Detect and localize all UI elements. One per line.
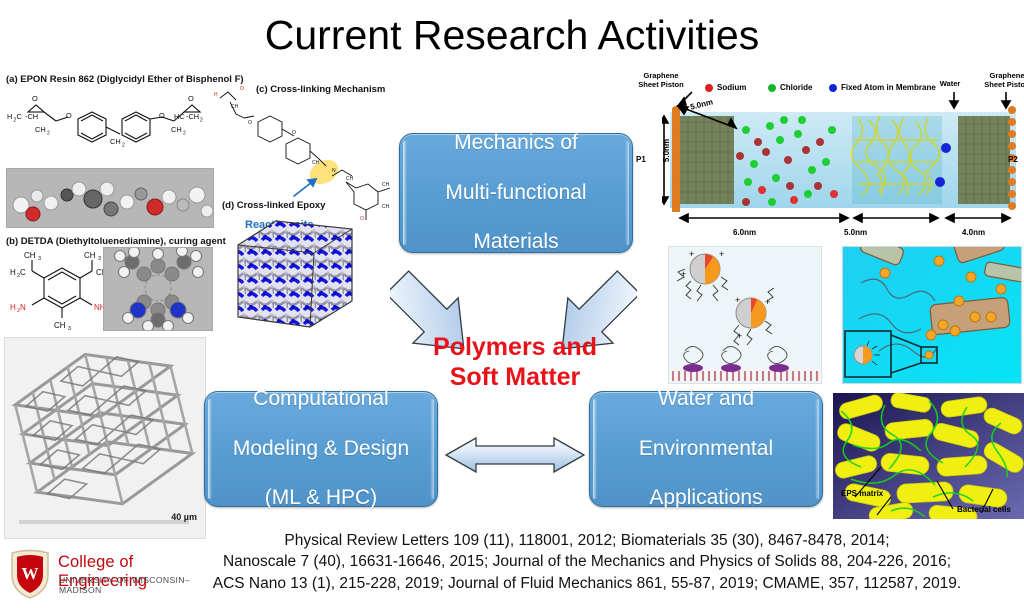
svg-text:O: O xyxy=(360,216,364,222)
box-water-and-environmental-applications[interactable]: Water and Environmental Applications xyxy=(589,391,823,507)
center-label-line2: Soft Matter xyxy=(412,362,618,392)
svg-text:H: H xyxy=(7,112,12,121)
svg-text:CH: CH xyxy=(35,125,46,134)
svg-text:C: C xyxy=(17,112,23,121)
center-label-line1: Polymers and xyxy=(412,332,618,362)
svg-text:+: + xyxy=(681,269,686,279)
citation-line-3: ACS Nano 13 (1), 215-228, 2019; Journal … xyxy=(150,573,1024,594)
janus-particle-membrane-illustration: +++ +++ xyxy=(668,246,822,384)
svg-text:CH: CH xyxy=(382,182,390,188)
legend-dot-chloride xyxy=(768,84,776,92)
uw-madison-college-of-engineering-logo: W College of Engineering UNIVERSITY OF W… xyxy=(6,549,206,601)
svg-text:2: 2 xyxy=(200,118,203,124)
md-right-piston-line2: Sheet Piston xyxy=(984,80,1024,89)
svg-text:CH: CH xyxy=(231,104,239,110)
svg-text:N: N xyxy=(20,303,26,312)
biofilm-simulation-image: EPS matrix Bacterial cells xyxy=(833,393,1024,519)
svg-text:CH: CH xyxy=(84,251,96,260)
box-computational-line2: Modeling & Design xyxy=(225,437,417,462)
svg-text:O: O xyxy=(32,94,38,103)
md-simulation-panel xyxy=(662,90,1024,240)
md-dim-bottom-2: 5.0nm xyxy=(844,228,867,237)
md-dim-bottom-3: 4.0nm xyxy=(962,228,985,237)
svg-text:-CH: -CH xyxy=(186,112,199,121)
box-computational-line1: Computational xyxy=(225,387,417,412)
legend-dot-sodium xyxy=(705,84,713,92)
svg-text:O: O xyxy=(240,86,244,92)
detda-molecule-3d-render xyxy=(103,247,213,331)
biofilm-label-eps: EPS matrix xyxy=(841,489,883,498)
svg-text:+: + xyxy=(735,295,740,305)
svg-text:3: 3 xyxy=(68,326,71,330)
svg-text:2: 2 xyxy=(183,131,186,137)
crosslinked-epoxy-cube-render xyxy=(232,215,358,333)
svg-text:CH: CH xyxy=(171,125,182,134)
md-piston-label-p1: P1 xyxy=(636,155,646,164)
svg-text:O: O xyxy=(292,130,296,136)
md-piston-label-p2: P2 xyxy=(1008,155,1018,164)
svg-text:-CH: -CH xyxy=(25,112,38,121)
center-theme-label: Polymers and Soft Matter xyxy=(412,332,618,392)
lattice-scale-bar-label: 40 µm xyxy=(171,512,197,522)
svg-text:W: W xyxy=(22,564,39,583)
svg-text:CH: CH xyxy=(110,137,121,146)
svg-text:2: 2 xyxy=(122,143,125,149)
page-title: Current Research Activities xyxy=(0,12,1024,59)
svg-text:2: 2 xyxy=(47,131,50,137)
svg-text:+: + xyxy=(689,249,694,259)
svg-text:CH: CH xyxy=(382,204,390,210)
svg-text:N: N xyxy=(332,168,336,174)
md-dim-vertical: 5.0nm xyxy=(662,139,671,162)
svg-text:HC: HC xyxy=(174,112,185,121)
janus-particle-rod-illustration xyxy=(842,246,1022,384)
chem-label-d: (d) Cross-linked Epoxy xyxy=(222,200,325,211)
svg-text:+: + xyxy=(765,297,770,307)
legend-label-chloride: Chloride xyxy=(780,83,812,92)
box-computational-modeling-and-design[interactable]: Computational Modeling & Design (ML & HP… xyxy=(204,391,438,507)
lattice-microstructure-sem-image: 40 µm xyxy=(4,337,206,539)
svg-text:3: 3 xyxy=(38,256,41,262)
svg-text:+: + xyxy=(737,331,742,341)
arrow-horizontal-double xyxy=(440,432,590,478)
legend-label-sodium: Sodium xyxy=(717,83,746,92)
citation-line-1: Physical Review Letters 109 (11), 118001… xyxy=(150,530,1024,551)
box-mechanics-line3: Materials xyxy=(437,230,594,255)
chem-label-b: (b) DETDA (Diethyltoluenediamine), curin… xyxy=(6,236,226,247)
md-label-water: Water xyxy=(930,80,970,89)
svg-text:O: O xyxy=(66,111,72,120)
svg-text:CH: CH xyxy=(24,251,36,260)
box-computational-line3: (ML & HPC) xyxy=(225,486,417,511)
svg-text:O: O xyxy=(188,94,194,103)
citations-block: Physical Review Letters 109 (11), 118001… xyxy=(150,530,1024,594)
box-mechanics-line2: Multi-functional xyxy=(437,181,594,206)
biofilm-label-cells: Bacterial cells xyxy=(957,505,1011,514)
svg-text:O: O xyxy=(159,111,165,120)
md-label-left-piston: Graphene Sheet Piston xyxy=(632,72,690,89)
svg-text:+: + xyxy=(719,249,724,259)
box-mechanics-line1: Mechanics of xyxy=(437,131,594,156)
svg-text:CH: CH xyxy=(54,321,66,330)
svg-text:CH: CH xyxy=(346,176,354,182)
box-water-line2: Environmental xyxy=(631,437,781,462)
legend-label-fixed-atom: Fixed Atom in Membrane xyxy=(841,83,936,92)
box-water-line1: Water and xyxy=(631,387,781,412)
svg-text:3: 3 xyxy=(98,256,101,262)
epon-resin-structure-diagram: O H2C -CH CH2 O CH2 O CH2 HC-CH2 O xyxy=(4,88,216,173)
legend-dot-fixed-atom xyxy=(829,84,837,92)
svg-text:H: H xyxy=(10,303,16,312)
md-left-piston-line2: Sheet Piston xyxy=(638,80,683,89)
svg-text:H: H xyxy=(10,268,16,277)
citation-line-2: Nanoscale 7 (40), 16631-16646, 2015; Jou… xyxy=(150,551,1024,572)
svg-text:C: C xyxy=(20,268,26,277)
epon-molecule-3d-render xyxy=(6,168,214,228)
chem-label-a: (a) EPON Resin 862 (Diglycidyl Ether of … xyxy=(6,74,244,85)
svg-text:O: O xyxy=(248,120,252,126)
md-dim-bottom-1: 6.0nm xyxy=(733,228,756,237)
md-label-right-piston: Graphene Sheet Piston xyxy=(978,72,1024,89)
svg-text:H: H xyxy=(214,92,218,98)
uw-crest-icon: W xyxy=(6,549,54,599)
svg-text:CH: CH xyxy=(312,160,320,166)
box-water-line3: Applications xyxy=(631,486,781,511)
box-mechanics-of-multifunctional-materials[interactable]: Mechanics of Multi-functional Materials xyxy=(399,133,633,253)
logo-university-label: UNIVERSITY OF WISCONSIN–MADISON xyxy=(59,575,206,595)
